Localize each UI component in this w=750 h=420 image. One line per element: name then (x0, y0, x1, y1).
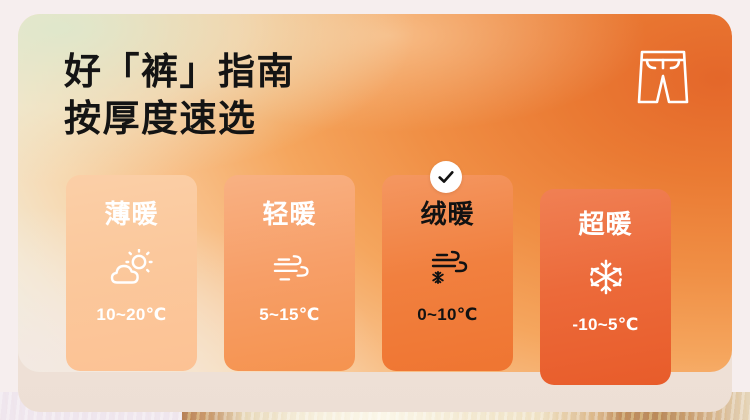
pants-icon (632, 48, 694, 106)
card-temperature: -10~5℃ (572, 315, 638, 335)
card-temperature: 5~15℃ (259, 305, 319, 325)
thickness-card-thin[interactable]: 薄暖 10~20℃ (66, 175, 197, 371)
thickness-card-light[interactable]: 轻暖 5~15℃ (224, 175, 355, 371)
wind-icon (267, 249, 313, 289)
card-temperature: 10~20℃ (96, 305, 166, 325)
snowflake-icon (583, 257, 629, 297)
card-label: 超暖 (578, 211, 632, 237)
card-label: 轻暖 (262, 201, 316, 227)
thickness-card-extra-warm[interactable]: 超暖 -10~5℃ (540, 189, 671, 385)
card-label: 绒暖 (420, 201, 474, 227)
thickness-card-fleece[interactable]: 绒暖 0~10℃ (382, 175, 513, 371)
title-line-2: 按厚度速选 (64, 95, 295, 142)
check-icon (436, 167, 456, 187)
promo-panel: 好「裤」指南 按厚度速选 薄暖 (18, 14, 732, 412)
sun-behind-cloud-icon (109, 249, 155, 289)
title-line-1: 好「裤」指南 (64, 48, 295, 95)
thickness-selector: 薄暖 10~20℃ 轻暖 (66, 175, 686, 375)
card-temperature: 0~10℃ (417, 305, 477, 325)
selected-check-badge (430, 161, 462, 193)
card-label: 薄暖 (104, 201, 158, 227)
wind-snow-icon (425, 249, 471, 289)
page-title: 好「裤」指南 按厚度速选 (64, 48, 295, 142)
